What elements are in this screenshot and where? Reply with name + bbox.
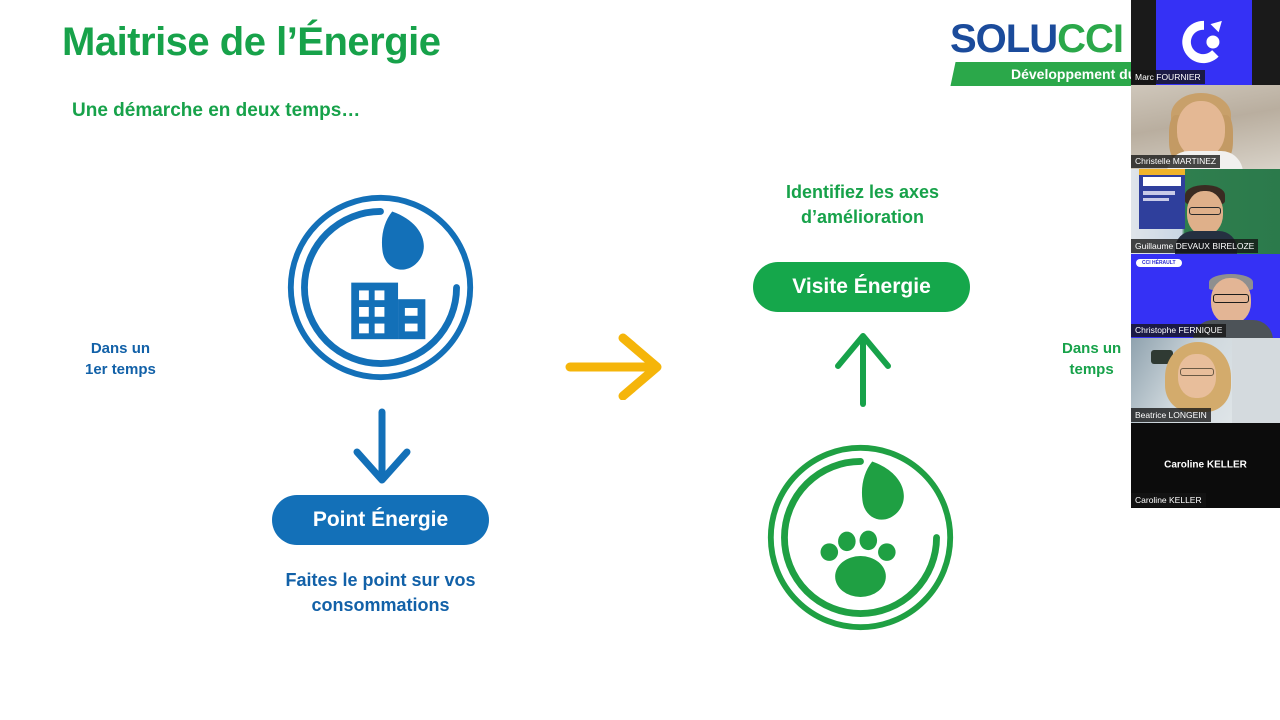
logo-text-solu: SOLU: [950, 17, 1057, 61]
participant-name: Guillaume DEVAUX BIRELOZE: [1131, 239, 1258, 253]
cci-herault-badge: CCI HÉRAULT: [1136, 259, 1182, 267]
background-poster-top: [1139, 169, 1185, 175]
avatar-face: [1177, 101, 1225, 157]
right-step-label-line1: Dans un: [1062, 338, 1121, 359]
page-subtitle: Une démarche en deux temps…: [72, 100, 360, 122]
left-step-label-line2: 1er temps: [85, 359, 156, 380]
background-wall: [1232, 338, 1280, 423]
participant-name-centered: Caroline KELLER: [1131, 460, 1280, 471]
avatar-glasses: [1213, 294, 1249, 303]
visite-energie-caption-line2: d’amélioration: [730, 205, 995, 230]
participant-name: Marc FOURNIER: [1131, 70, 1205, 84]
video-tile-participant[interactable]: Guillaume DEVAUX BIRELOZE: [1131, 169, 1280, 254]
background-poster: [1139, 173, 1185, 229]
arrow-up-icon: [830, 330, 896, 408]
avatar-face: [1178, 354, 1216, 398]
point-energie-caption-line2: consommations: [248, 593, 513, 618]
participant-name: Christelle MARTINEZ: [1131, 155, 1220, 169]
point-energie-caption: Faites le point sur vos consommations: [248, 568, 513, 618]
presentation-slide: Maitrise de l’Énergie Une démarche en de…: [0, 0, 1280, 720]
avatar-glasses: [1180, 368, 1214, 376]
participant-name: Beatrice LONGEIN: [1131, 408, 1211, 422]
right-step-label: Dans un temps: [1062, 338, 1121, 380]
gauge-footprint-icon: [763, 440, 958, 635]
participant-name: Christophe FERNIQUE: [1131, 324, 1226, 338]
video-tile-participant[interactable]: Caroline KELLER Caroline KELLER: [1131, 423, 1280, 508]
right-step-label-line2: temps: [1062, 359, 1121, 380]
point-energie-caption-line1: Faites le point sur vos: [248, 568, 513, 593]
left-step-label-line1: Dans un: [85, 338, 156, 359]
video-tile-participant[interactable]: CCI HÉRAULT Christophe FERNIQUE: [1131, 254, 1280, 339]
point-energie-button[interactable]: Point Énergie: [272, 495, 489, 545]
video-tile-participant[interactable]: Christelle MARTINEZ: [1131, 85, 1280, 170]
visite-energie-button[interactable]: Visite Énergie: [753, 262, 970, 312]
participant-name: Caroline KELLER: [1131, 493, 1206, 507]
video-participants-panel[interactable]: Marc FOURNIER Christelle MARTINEZ Guilla…: [1131, 0, 1280, 508]
arrow-down-icon: [347, 408, 417, 486]
video-tile-participant[interactable]: Beatrice LONGEIN: [1131, 338, 1280, 423]
avatar-glasses: [1189, 207, 1221, 215]
visite-energie-caption-line1: Identifiez les axes: [730, 180, 995, 205]
left-step-label: Dans un 1er temps: [85, 338, 156, 380]
gauge-building-icon: [283, 190, 478, 385]
visite-energie-caption: Identifiez les axes d’amélioration: [730, 180, 995, 230]
page-title: Maitrise de l’Énergie: [62, 20, 441, 65]
logo-text-cci: CCI: [1057, 17, 1123, 61]
video-tile-participant[interactable]: Marc FOURNIER: [1131, 0, 1280, 85]
arrow-right-icon: [565, 330, 665, 400]
